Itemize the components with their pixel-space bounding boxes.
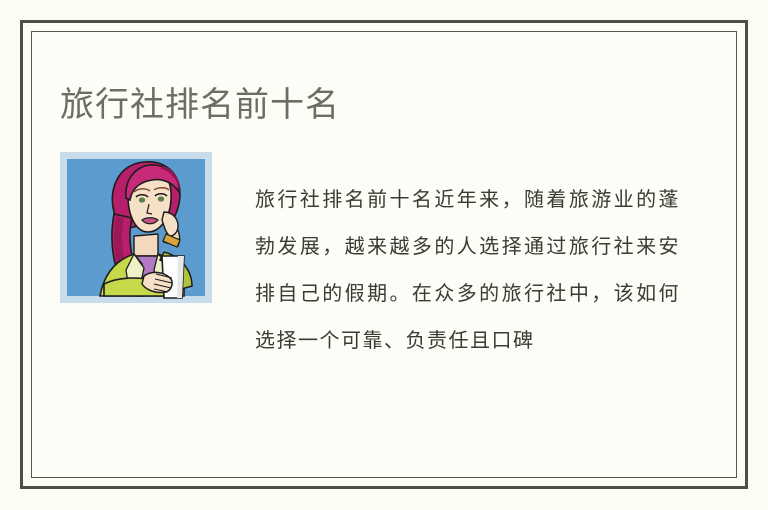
article-content: 旅行社排名前十名 [32, 32, 736, 477]
page-root: 旅行社排名前十名 [0, 0, 768, 510]
decorative-outer-frame: 旅行社排名前十名 [20, 20, 748, 489]
article-paragraph: 旅行社排名前十名近年来，随着旅游业的蓬勃发展，越来越多的人选择通过旅行社来安排自… [255, 176, 680, 364]
woman-with-cup-illustration [60, 152, 212, 303]
decorative-inner-frame: 旅行社排名前十名 [31, 31, 737, 478]
illustration-svg [60, 152, 212, 303]
page-title: 旅行社排名前十名 [60, 83, 340, 127]
